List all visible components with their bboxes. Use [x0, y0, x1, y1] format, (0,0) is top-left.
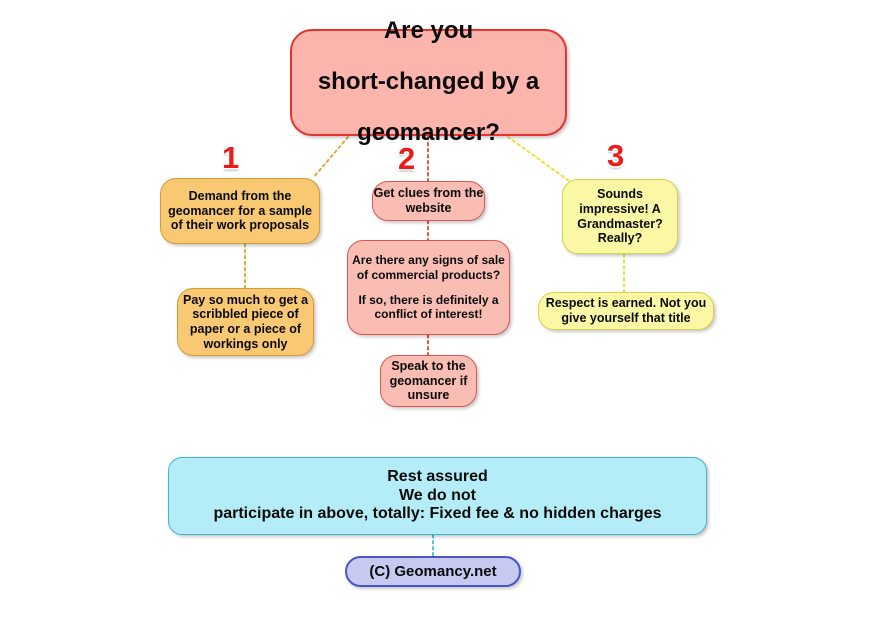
node-commercial-products: Are there any signs of sale of commercia…: [347, 240, 510, 335]
diagram-canvas: Are you short-changed by a geomancer? 1 …: [0, 0, 877, 620]
banner-line-1: Rest assured: [387, 468, 488, 487]
node-demand-sample-text: Demand from the geomancer for a sample o…: [161, 189, 319, 233]
node-commercial-products-text-2: If so, there is definitely a conflict of…: [348, 293, 509, 321]
copyright-footer-label: (C) Geomancy.net: [369, 563, 496, 581]
title-line-2: short-changed by a: [318, 68, 539, 96]
node-speak-geomancer-text: Speak to the geomancer if unsure: [381, 359, 476, 403]
node-commercial-products-text-1: Are there any signs of sale of commercia…: [348, 253, 509, 281]
banner-line-3: participate in above, totally: Fixed fee…: [213, 505, 661, 524]
step-number-3: 3: [607, 140, 624, 171]
connector-title-to-col3: [508, 137, 572, 183]
step-number-1: 1: [222, 142, 239, 173]
node-scribbled-paper: Pay so much to get a scribbled piece of …: [177, 288, 314, 356]
node-grandmaster-text: Sounds impressive! A Grandmaster? Really…: [563, 187, 677, 246]
node-get-clues-text: Get clues from the website: [373, 186, 484, 216]
diagram-title-box: Are you short-changed by a geomancer?: [290, 29, 567, 136]
node-respect-earned: Respect is earned. Not you give yourself…: [538, 292, 714, 330]
title-line-1: Are you: [384, 17, 473, 45]
node-respect-earned-text: Respect is earned. Not you give yourself…: [539, 296, 713, 326]
node-grandmaster: Sounds impressive! A Grandmaster? Really…: [562, 179, 678, 254]
banner-line-2: We do not: [399, 487, 476, 506]
title-line-3: geomancer?: [357, 119, 500, 147]
node-scribbled-paper-text: Pay so much to get a scribbled piece of …: [178, 293, 313, 352]
reassurance-banner: Rest assured We do not participate in ab…: [168, 457, 707, 535]
connector-title-to-col1: [313, 137, 348, 178]
node-get-clues: Get clues from the website: [372, 181, 485, 221]
step-number-2: 2: [398, 143, 415, 174]
node-speak-geomancer: Speak to the geomancer if unsure: [380, 355, 477, 407]
node-demand-sample: Demand from the geomancer for a sample o…: [160, 178, 320, 244]
copyright-footer[interactable]: (C) Geomancy.net: [345, 556, 521, 587]
